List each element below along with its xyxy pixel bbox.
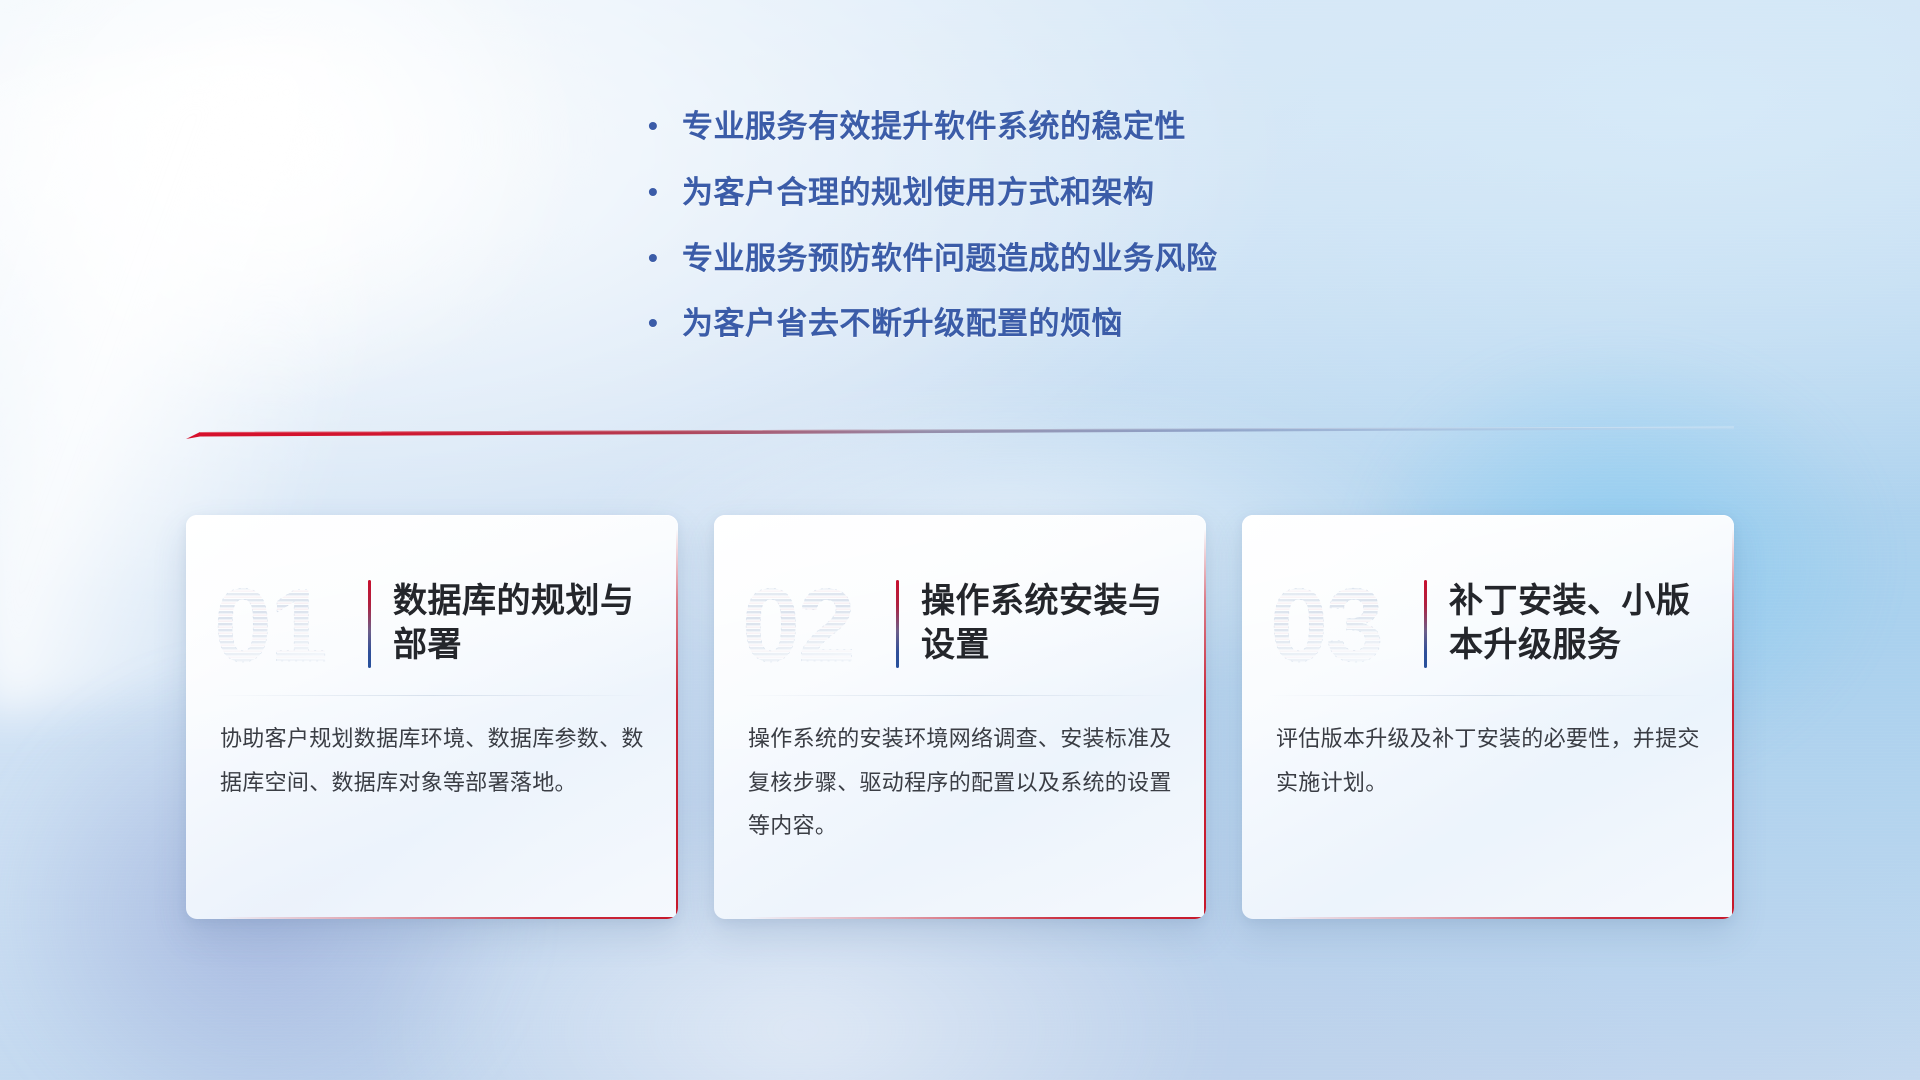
bullet-dot-icon: • [648, 240, 682, 275]
service-card-01[interactable]: 01 01 数据库的规划与部署 协助客户规划数据库环境、数据库参数、数据库空间、… [186, 515, 678, 919]
service-card-03[interactable]: 03 03 补丁安装、小版本升级服务 评估版本升级及补丁安装的必要性，并提交实施… [1242, 515, 1734, 919]
card-accent-edge-bottom [1276, 917, 1734, 920]
card-title-rule-02 [896, 580, 899, 668]
bullet-text-2: 为客户合理的规划使用方式和架构 [682, 174, 1468, 212]
card-title-rule-03 [1424, 580, 1427, 668]
bullet-dot-icon: • [648, 108, 682, 143]
section-divider [186, 425, 1734, 447]
card-body-separator [740, 695, 1180, 696]
card-number-03: 03 03 [1268, 569, 1420, 679]
bullet-text-3: 专业服务预防软件问题造成的业务风险 [682, 240, 1468, 278]
card-number-02: 02 02 [740, 569, 892, 679]
card-body-text-02: 操作系统的安装环境网络调查、安装标准及复核步骤、驱动程序的配置以及系统的设置等内… [748, 726, 1172, 838]
card-header-03: 03 03 补丁安装、小版本升级服务 [1242, 515, 1734, 695]
svg-text:01: 01 [214, 568, 326, 684]
card-number-01: 01 01 [212, 569, 364, 679]
service-card-row: 01 01 数据库的规划与部署 协助客户规划数据库环境、数据库参数、数据库空间、… [186, 515, 1734, 925]
card-header-02: 02 02 操作系统安装与设置 [714, 515, 1206, 695]
bullet-text-1: 专业服务有效提升软件系统的稳定性 [682, 108, 1468, 146]
bullet-item-2: • 为客户合理的规划使用方式和架构 [648, 174, 1468, 212]
card-accent-edge-bottom [220, 917, 678, 920]
card-title-rule-01 [368, 580, 371, 668]
card-body-separator [212, 695, 652, 696]
card-accent-edge-bottom [748, 917, 1206, 920]
bullet-dot-icon: • [648, 305, 682, 340]
svg-text:02: 02 [742, 568, 854, 684]
card-body-03: 评估版本升级及补丁安装的必要性，并提交实施计划。 [1242, 695, 1734, 804]
service-card-02[interactable]: 02 02 操作系统安装与设置 操作系统的安装环境网络调查、安装标准及复核步骤、… [714, 515, 1206, 919]
svg-text:03: 03 [1270, 568, 1382, 684]
card-header-01: 01 01 数据库的规划与部署 [186, 515, 678, 695]
benefits-bullet-list: • 专业服务有效提升软件系统的稳定性 • 为客户合理的规划使用方式和架构 • 专… [648, 108, 1468, 371]
bullet-item-4: • 为客户省去不断升级配置的烦恼 [648, 305, 1468, 343]
bullet-dot-icon: • [648, 174, 682, 209]
card-body-text-03: 评估版本升级及补丁安装的必要性，并提交实施计划。 [1276, 726, 1700, 795]
bullet-text-4: 为客户省去不断升级配置的烦恼 [682, 305, 1468, 343]
card-title-01: 数据库的规划与部署 [393, 580, 652, 667]
slide-canvas: • 专业服务有效提升软件系统的稳定性 • 为客户合理的规划使用方式和架构 • 专… [0, 0, 1920, 1080]
card-body-separator [1268, 695, 1708, 696]
card-body-01: 协助客户规划数据库环境、数据库参数、数据库空间、数据库对象等部署落地。 [186, 695, 678, 804]
card-title-02: 操作系统安装与设置 [921, 580, 1180, 667]
card-body-text-01: 协助客户规划数据库环境、数据库参数、数据库空间、数据库对象等部署落地。 [220, 726, 644, 795]
card-body-02: 操作系统的安装环境网络调查、安装标准及复核步骤、驱动程序的配置以及系统的设置等内… [714, 695, 1206, 848]
bullet-item-1: • 专业服务有效提升软件系统的稳定性 [648, 108, 1468, 146]
bullet-item-3: • 专业服务预防软件问题造成的业务风险 [648, 240, 1468, 278]
card-title-03: 补丁安装、小版本升级服务 [1449, 580, 1708, 667]
